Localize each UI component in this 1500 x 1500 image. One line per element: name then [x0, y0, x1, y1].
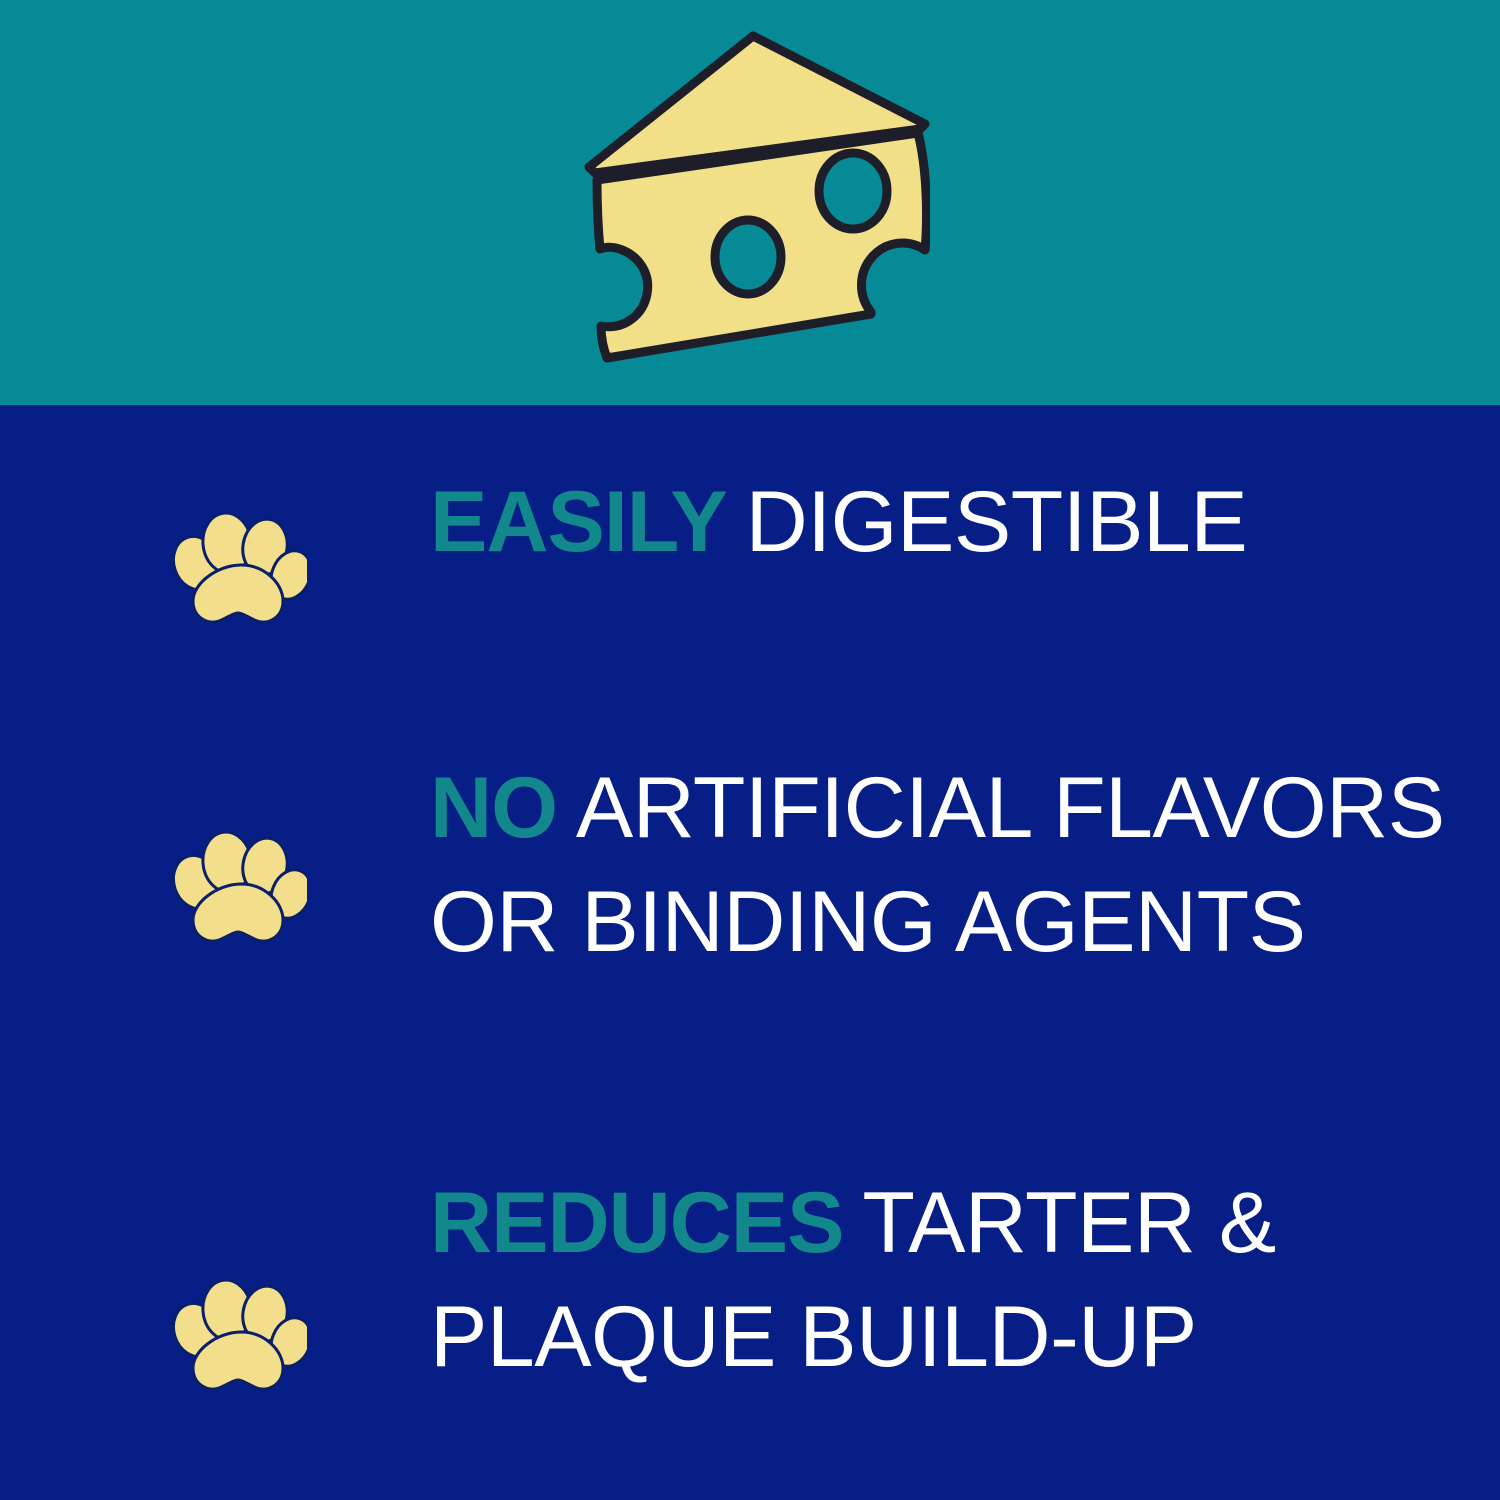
benefit-highlight: EASILY	[430, 474, 727, 570]
paw-print-icon	[168, 513, 308, 633]
benefit-line: REDUCESTARTER &	[430, 1180, 1470, 1266]
benefit-highlight: REDUCES	[430, 1175, 844, 1271]
benefit-line: EASILYDIGESTIBLE	[430, 479, 1470, 565]
cheese-wedge-icon	[575, 28, 930, 373]
benefits-panel: EASILYDIGESTIBLE NOARTIFICIAL FLAVORS	[0, 405, 1500, 1500]
benefit-text: EASILYDIGESTIBLE	[430, 479, 1470, 565]
product-benefits-graphic: EASILYDIGESTIBLE NOARTIFICIAL FLAVORS	[0, 0, 1500, 1500]
benefit-line: NOARTIFICIAL FLAVORS	[430, 765, 1470, 851]
benefit-item: REDUCESTARTER & PLAQUE BUILD-UP	[0, 1180, 1500, 1430]
benefit-rest: OR BINDING AGENTS	[430, 874, 1306, 970]
benefit-rest: DIGESTIBLE	[746, 474, 1248, 570]
benefit-item: NOARTIFICIAL FLAVORS OR BINDING AGENTS	[0, 765, 1500, 1015]
benefit-text: NOARTIFICIAL FLAVORS OR BINDING AGENTS	[430, 765, 1470, 993]
benefit-item: EASILYDIGESTIBLE	[0, 465, 1500, 675]
hero-banner	[0, 0, 1500, 405]
benefit-rest: ARTIFICIAL FLAVORS	[576, 760, 1445, 856]
benefit-rest: PLAQUE BUILD-UP	[430, 1289, 1197, 1385]
benefit-rest: TARTER &	[862, 1175, 1275, 1271]
benefit-highlight: NO	[430, 760, 557, 856]
benefit-line: OR BINDING AGENTS	[430, 879, 1470, 965]
paw-print-icon	[168, 827, 308, 957]
benefit-line: PLAQUE BUILD-UP	[430, 1294, 1470, 1380]
paw-print-icon	[168, 1275, 308, 1405]
benefit-text: REDUCESTARTER & PLAQUE BUILD-UP	[430, 1180, 1470, 1408]
